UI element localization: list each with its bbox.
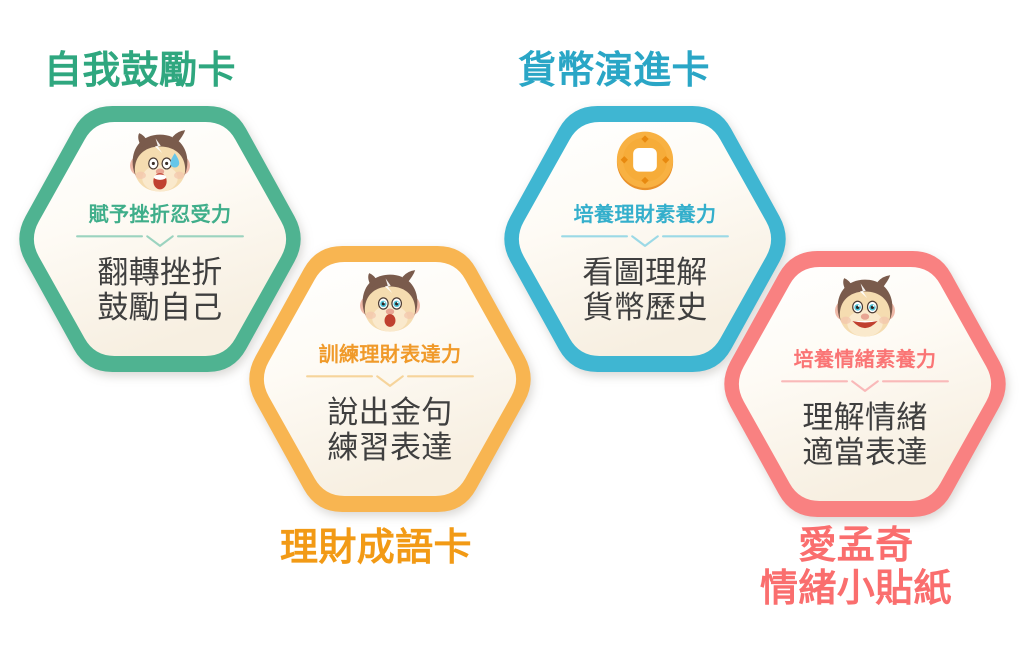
card-label-line: 貨幣演進卡 [518, 50, 710, 93]
card-label-idiom-finance: 理財成語卡 [280, 527, 472, 570]
hexagon-shape [715, 248, 1015, 520]
card-label-line: 情緒小貼紙 [760, 568, 952, 611]
infographic-canvas: 賦予挫折忍受力 翻轉挫折鼓勵自己自我鼓勵卡 [0, 0, 1024, 657]
card-label-emotion-stickers: 愛孟奇情緒小貼紙 [760, 525, 952, 610]
card-label-self-encouragement: 自我鼓勵卡 [44, 50, 236, 93]
card-label-currency-evolution: 貨幣演進卡 [518, 50, 710, 93]
card-label-line: 愛孟奇 [760, 525, 952, 568]
card-emotion-stickers[interactable]: 培養情緒素養力 理解情緒適當表達 [715, 248, 1015, 520]
card-label-line: 自我鼓勵卡 [44, 50, 236, 93]
card-label-line: 理財成語卡 [280, 527, 472, 570]
